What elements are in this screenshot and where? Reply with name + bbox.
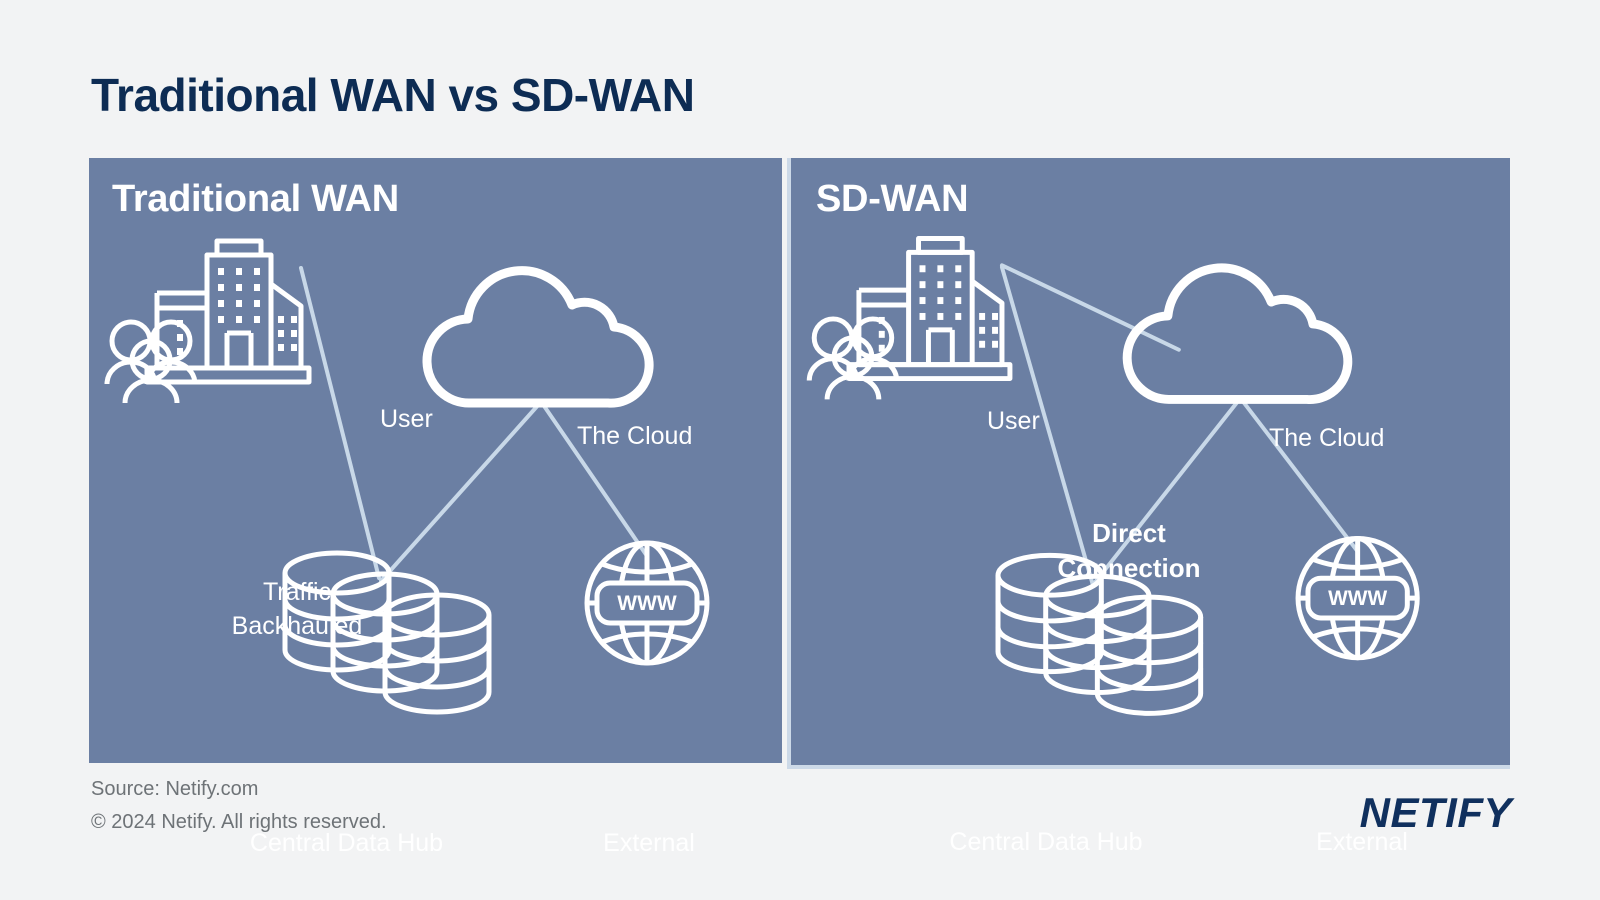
label-cloud-sdwan: The Cloud xyxy=(1269,422,1384,456)
netify-logo: NETIFY xyxy=(1360,789,1512,837)
globe-www-label: WWW xyxy=(617,592,677,615)
label-central-data-hub-sdwan: Central Data Hub xyxy=(931,826,1161,860)
page-title: Traditional WAN vs SD-WAN xyxy=(91,68,694,122)
office-building-windows xyxy=(879,265,998,351)
cloud-icon xyxy=(427,271,649,403)
panel-traditional-wan: Traditional WAN xyxy=(89,158,782,763)
footer-copyright: © 2024 Netify. All rights reserved. xyxy=(91,811,387,834)
link-user-to-cloud xyxy=(1002,265,1179,349)
globe-www-label: WWW xyxy=(1328,587,1387,610)
label-user-sdwan: User xyxy=(987,405,1040,439)
panel-sd-wan: SD-WAN xyxy=(787,158,1510,769)
label-user-traditional: User xyxy=(380,403,433,437)
label-cloud-traditional: The Cloud xyxy=(577,420,692,454)
cloud-icon xyxy=(1127,268,1348,400)
office-building-windows xyxy=(177,268,297,355)
annotation-traffic-backhauled: Traffic Backhauled xyxy=(180,576,414,644)
link-user-to-hub xyxy=(301,268,379,578)
infographic-page: Traditional WAN vs SD-WAN Traditional WA… xyxy=(0,0,1600,900)
annotation-direct-connection: Direct Connection xyxy=(1029,516,1229,586)
label-external-traditional: External xyxy=(542,827,756,861)
diagram-traditional-wan: WWW xyxy=(89,158,782,763)
diagram-sd-wan: WWW xyxy=(791,158,1510,765)
footer-source: Source: Netify.com xyxy=(91,778,258,801)
